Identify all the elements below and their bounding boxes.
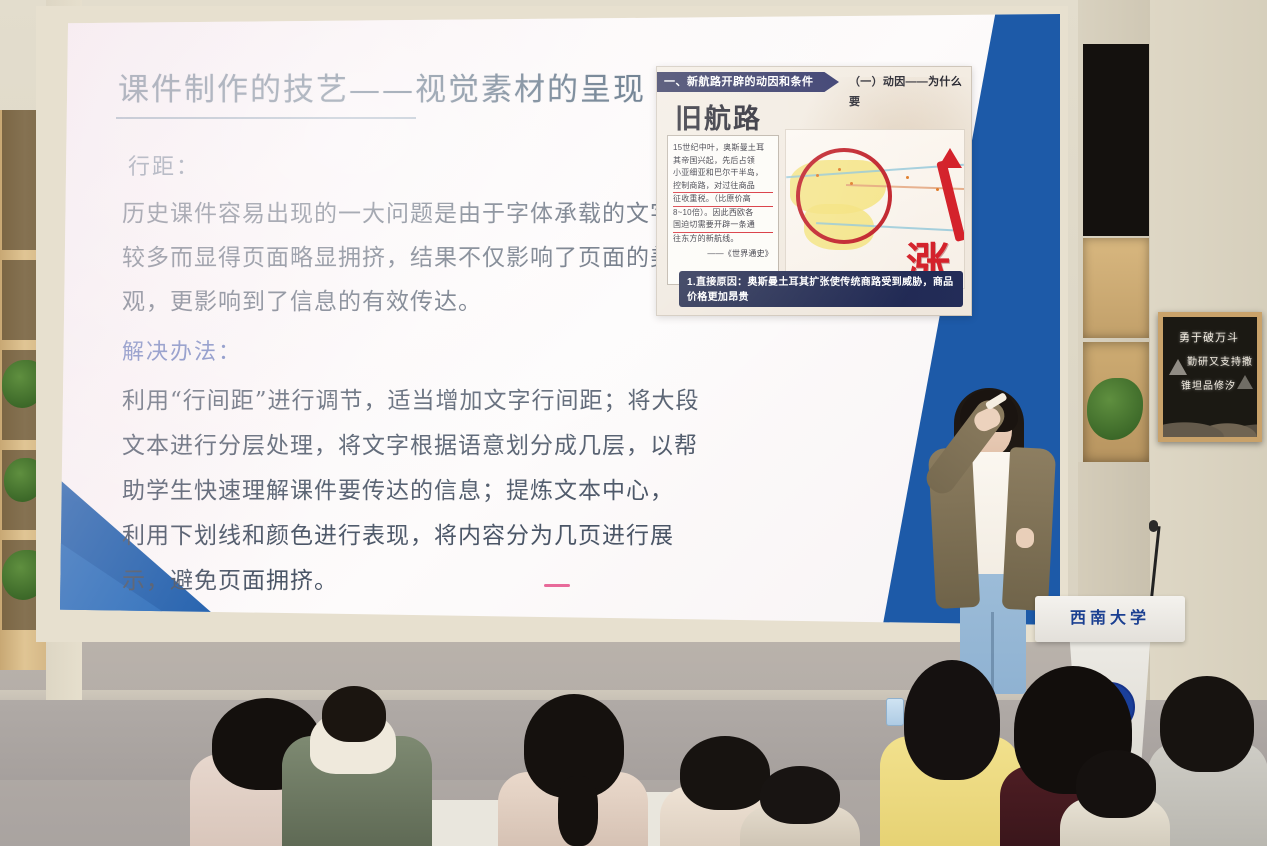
inset-quote-card: 15世纪中叶，奥斯曼土耳 其帝国兴起，先后占领 小亚细亚和巴尔干半岛， 控制商路… (667, 135, 779, 285)
slide-solution-label: 解决办法： (122, 334, 242, 366)
inset-map-image: 涨 (785, 129, 965, 289)
slide-section-label: 行距： (128, 149, 200, 181)
inset-quote-line: 小亚细亚和巴尔干半岛， (673, 167, 773, 180)
chalk-triangle-icon (1237, 375, 1253, 389)
slide-paragraph-1: 历史课件容易出现的一大问题是由于字体承载的文字较多而显得页面略显拥挤，结果不仅影… (122, 192, 682, 324)
map-city-dot (906, 176, 909, 179)
student-hair (322, 686, 386, 742)
microphone-icon (1149, 520, 1158, 532)
inset-quote-line: 往东方的新航线。 (673, 233, 773, 246)
inset-quote-line: 其帝国兴起，先后占领 (673, 155, 773, 168)
lecture-hall-scene: 勇于破万斗 勤研又支持撒 锥坦品修汐 课件制作的技艺——视觉素材的呈现 行距： … (0, 0, 1267, 846)
map-city-dot (936, 188, 939, 191)
inset-quote-line: 控制商路，对过往商品 (673, 180, 773, 194)
decorative-chalkboard: 勇于破万斗 勤研又支持撒 锥坦品修汐 (1158, 312, 1262, 442)
map-red-arrow-head-icon (938, 148, 962, 168)
slide-pink-underline-mark (544, 584, 570, 587)
right-shelf-plant-cell (1083, 342, 1149, 462)
inset-slide-image: 一、新航路开辟的动因和条件 （一）动因——为什么要 旧航路 15世纪中叶，奥斯曼… (656, 66, 972, 316)
slide-paragraph-2: 利用“行间距”进行调节，适当增加文字行间距；将大段文本进行分层处理，将文字根据语… (122, 379, 702, 604)
inset-quote-line: 15世纪中叶，奥斯曼土耳 (673, 142, 773, 155)
inset-banner-subtitle: （一）动因——为什么要 (849, 72, 971, 92)
slide-title-rule (116, 117, 416, 119)
inset-heading: 旧航路 (675, 97, 762, 136)
inset-banner-title: 一、新航路开辟的动因和条件 (657, 72, 839, 92)
chalk-mountain-art (1158, 403, 1262, 437)
right-shelf-open-cell (1083, 238, 1149, 338)
inset-quote-line: 国迫切需要开辟一条通 (673, 219, 773, 233)
student (498, 694, 648, 846)
presenter (880, 360, 1060, 690)
inset-quote-line: 征收重税。（比原价高 (673, 193, 773, 207)
chalkboard-line-2: 勤研又支持撒 (1187, 353, 1253, 368)
student-hair (1076, 750, 1156, 818)
inset-quote-line: 8~10倍）。因此西欧各 (673, 207, 773, 220)
podium-university-name: 西南大学 (1035, 604, 1185, 628)
student (1060, 750, 1170, 846)
student-with-phone (880, 658, 1020, 846)
map-highlight-circle (796, 148, 892, 244)
student (282, 686, 432, 846)
right-shelf-dark-panel (1083, 44, 1149, 236)
student-hair (904, 660, 1000, 780)
presenter-lower-hand (1016, 528, 1034, 548)
podium-top: 西南大学 (1035, 596, 1185, 642)
student-hair (760, 766, 840, 824)
inset-footer-conclusion: 1.直接原因：奥斯曼土耳其扩张使传统商路受到威胁，商品价格更加昂贵 (679, 271, 963, 307)
chalk-triangle-icon (1169, 359, 1187, 375)
student-ponytail (558, 776, 598, 846)
slide-title: 课件制作的技艺——视觉素材的呈现 (118, 64, 646, 109)
student-hair (1160, 676, 1254, 772)
chalkboard-line-3: 锥坦品修汐 (1181, 377, 1236, 392)
student (740, 766, 860, 846)
smartphone-icon (886, 698, 904, 726)
inset-quote-source: ——《世界通史》 (673, 248, 773, 261)
chalkboard-line-1: 勇于破万斗 (1179, 329, 1239, 345)
shelf-plant-icon (1087, 378, 1143, 440)
